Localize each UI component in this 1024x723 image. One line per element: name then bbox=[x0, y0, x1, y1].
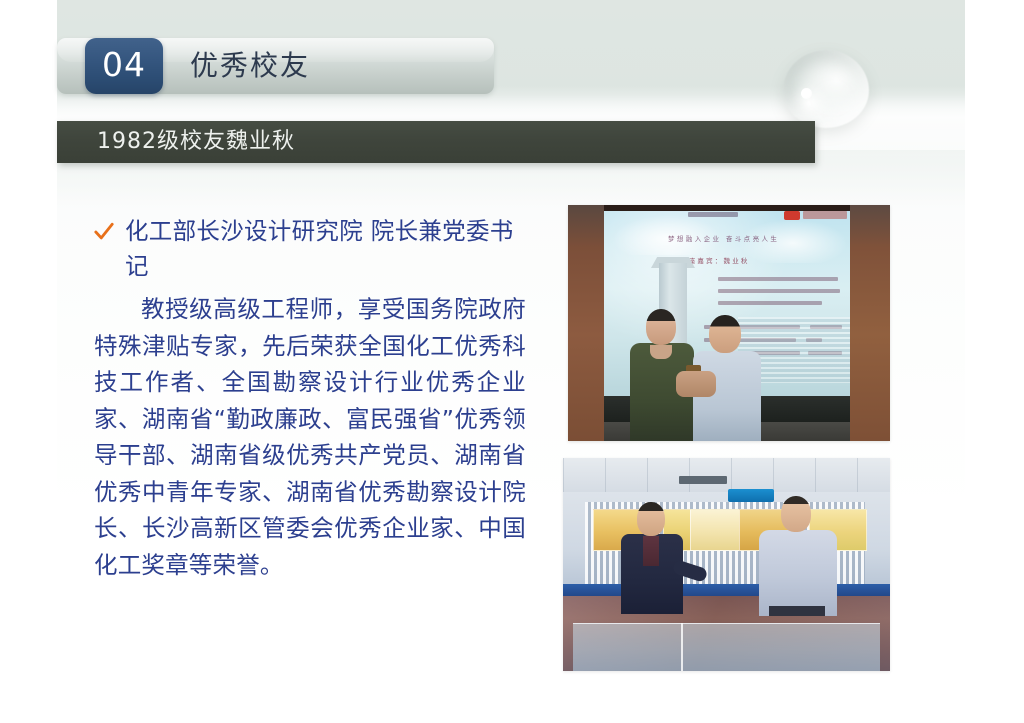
photo1-wall-left bbox=[568, 205, 604, 441]
bullet-item: 化工部长沙设计研究院 院长兼党委书记 bbox=[94, 214, 526, 284]
water-drop-highlight-icon bbox=[801, 88, 812, 99]
right-margin bbox=[965, 0, 1024, 723]
handshake-award-photo: 梦想融入企业 奋斗点亮人生 讲座嘉宾：魏业秋 bbox=[568, 205, 890, 441]
photo1-screen-logo-right-text bbox=[803, 211, 847, 219]
exhibition-hall-photo bbox=[563, 458, 890, 671]
body-paragraph: 教授级高级工程师，享受国务院政府特殊津贴专家，先后荣获全国化工优秀科技工作者、全… bbox=[94, 291, 526, 583]
photo1-handshake bbox=[676, 371, 716, 397]
photo1-screen-line-2 bbox=[718, 289, 840, 293]
photo1-screen-line-3 bbox=[718, 301, 822, 305]
photo2-ceiling-grid bbox=[563, 458, 890, 492]
photo1-screen-logo-right bbox=[784, 211, 800, 220]
section-number-label: 04 bbox=[85, 38, 163, 94]
photo2-person-left bbox=[621, 502, 683, 614]
photo2-ceiling-vent bbox=[679, 476, 727, 484]
subtitle-label: 1982级校友魏业秋 bbox=[97, 121, 295, 163]
check-mark-icon bbox=[94, 218, 114, 246]
photo1-screen-title: 梦想融入企业 奋斗点亮人生 bbox=[668, 233, 843, 243]
photo1-wall-right bbox=[850, 205, 890, 441]
photo1-screen-logo-left bbox=[688, 212, 738, 217]
body-text-column: 化工部长沙设计研究院 院长兼党委书记 教授级高级工程师，享受国务院政府特殊津贴专… bbox=[94, 214, 526, 583]
bullet-text: 化工部长沙设计研究院 院长兼党委书记 bbox=[125, 214, 526, 284]
photo1-screen-speaker: 讲座嘉宾：魏业秋 bbox=[680, 255, 840, 265]
water-drop-icon bbox=[783, 50, 869, 128]
bottom-margin bbox=[0, 700, 1024, 723]
left-margin bbox=[0, 0, 57, 723]
photo2-glass-edge bbox=[681, 623, 683, 671]
photo2-blue-band bbox=[563, 584, 890, 596]
photo2-person-right bbox=[759, 496, 837, 616]
photo1-screen-line-1 bbox=[718, 277, 838, 281]
page-title: 优秀校友 bbox=[190, 40, 480, 92]
photo2-glass-display-case bbox=[573, 623, 880, 671]
